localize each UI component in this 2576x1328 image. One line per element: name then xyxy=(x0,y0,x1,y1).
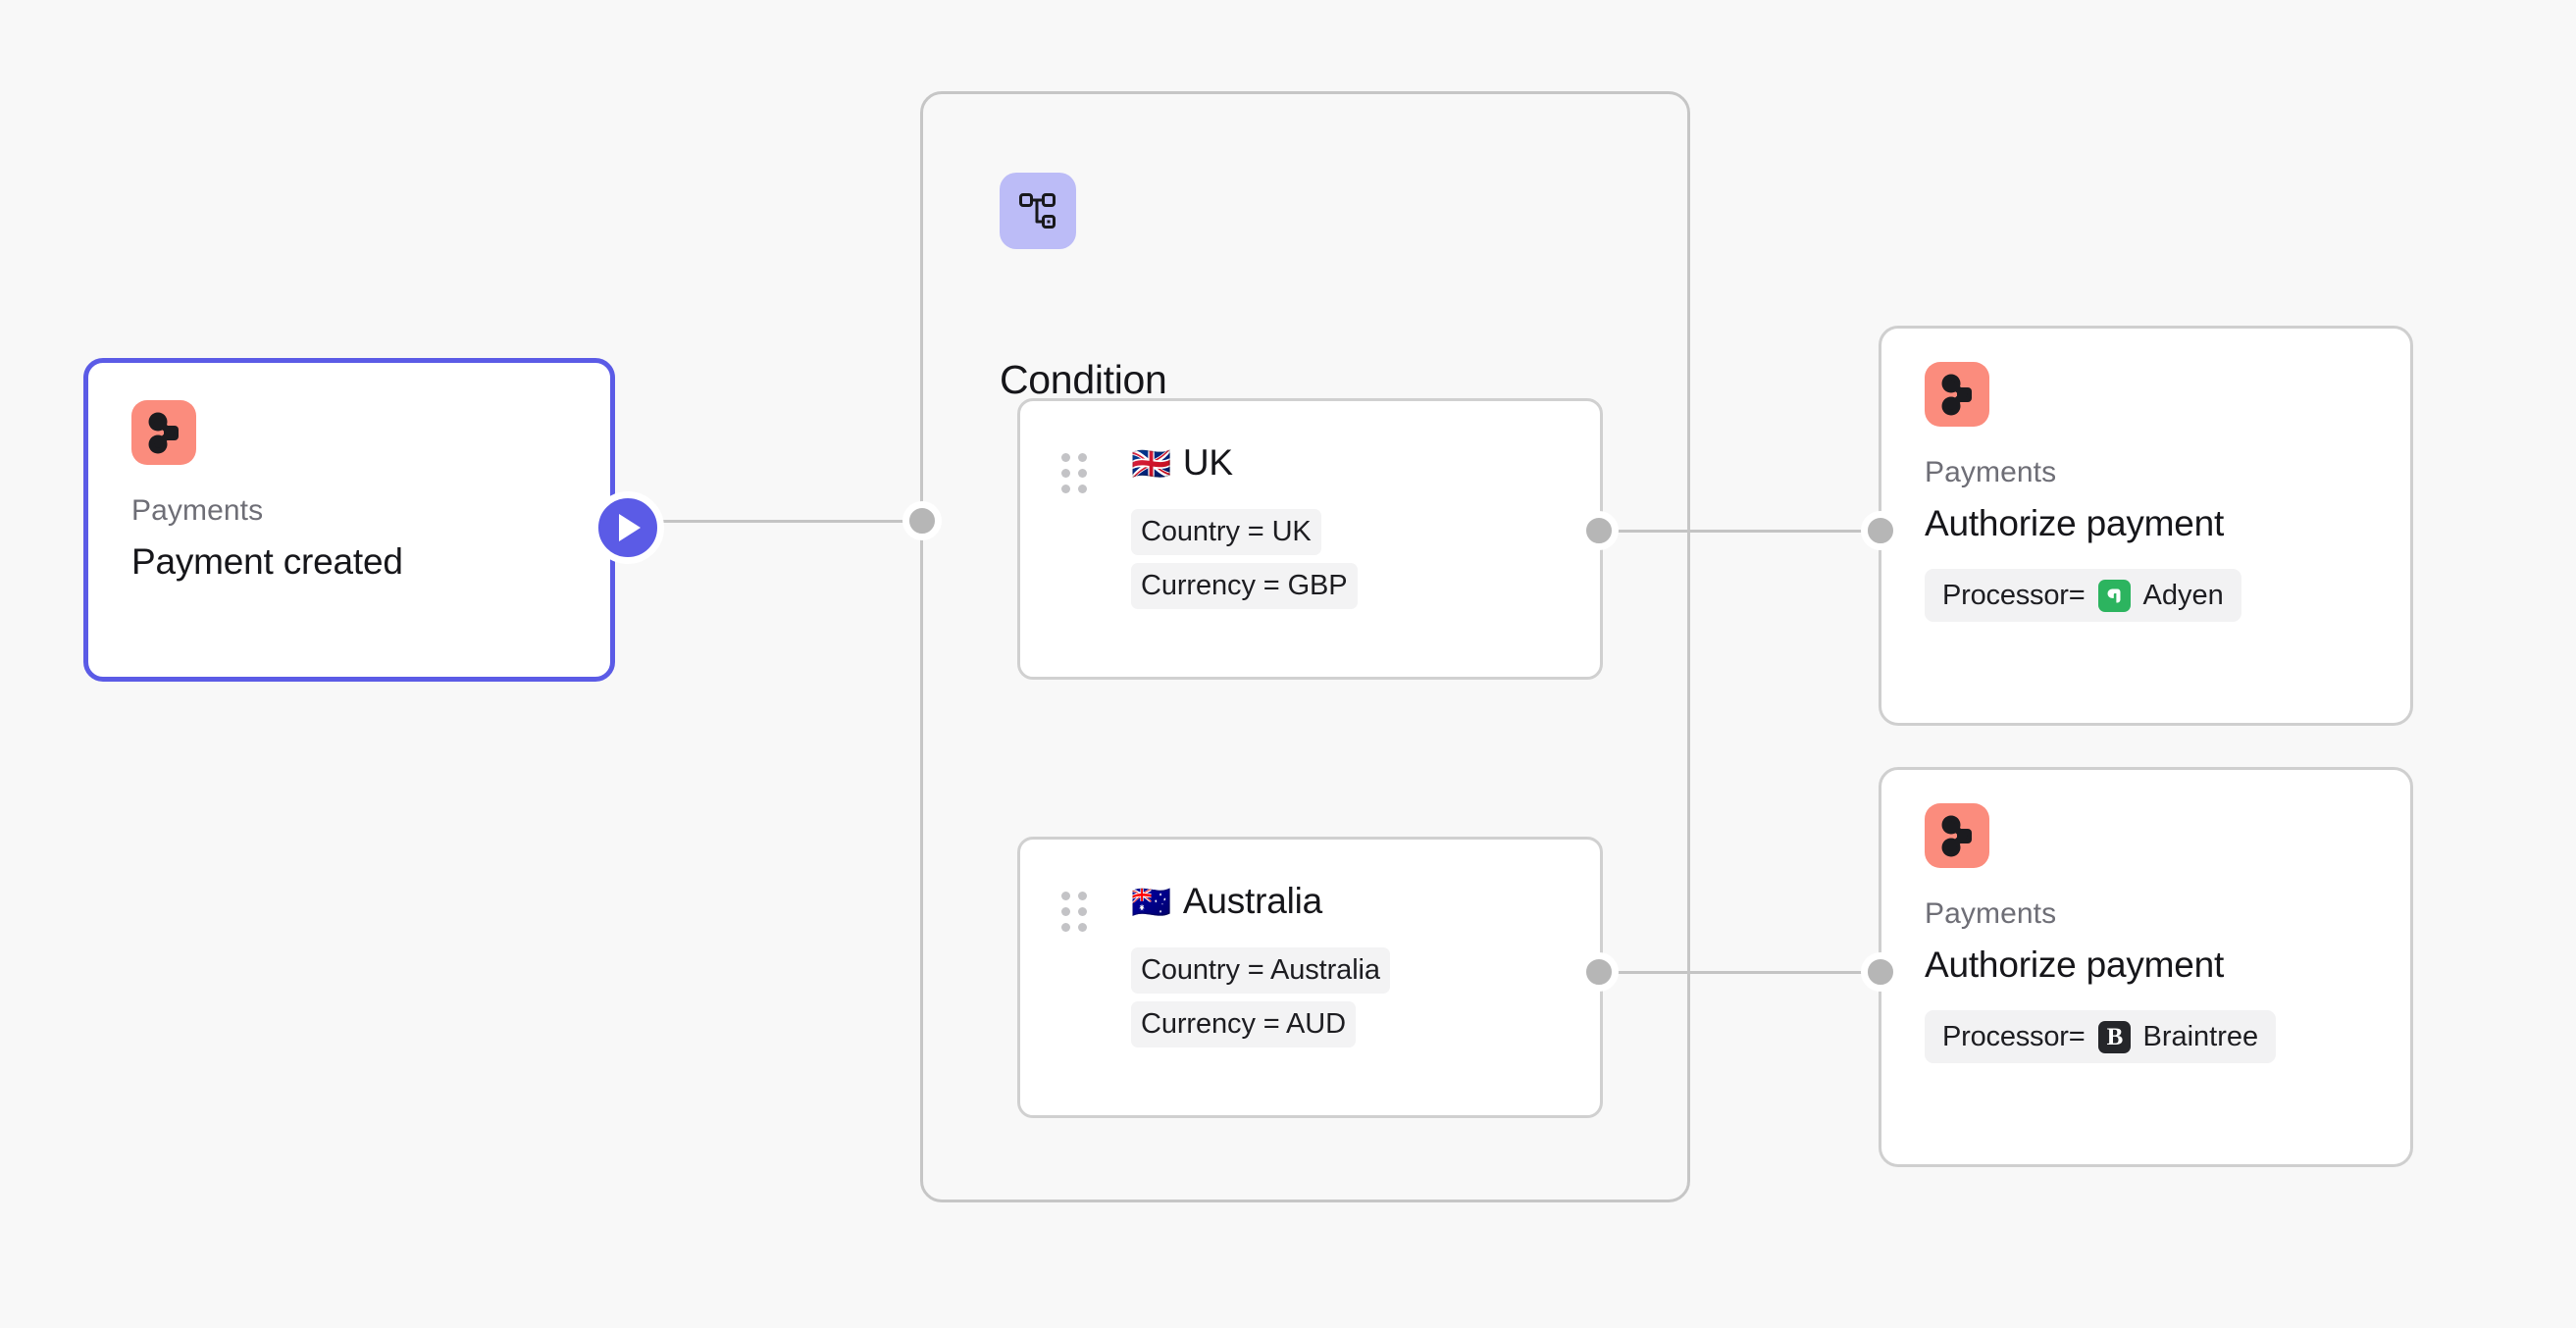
node-title: Payment created xyxy=(131,540,567,584)
braintree-logo-icon: B xyxy=(2098,1021,2131,1053)
adyen-logo-icon xyxy=(2098,580,2131,612)
node-category-label: Payments xyxy=(1925,456,2367,490)
processor-badge[interactable]: Processor= Adyen xyxy=(1925,569,2241,622)
condition-group-title: Condition xyxy=(1000,360,1167,400)
processor-name: Braintree xyxy=(2142,1019,2258,1054)
processor-badge[interactable]: Processor= B Braintree xyxy=(1925,1010,2276,1063)
workflow-canvas[interactable]: Payments Payment created Condition xyxy=(0,0,2576,1328)
condition-pill[interactable]: Currency = GBP xyxy=(1131,563,1358,609)
condition-pill[interactable]: Country = Australia xyxy=(1131,947,1390,994)
branch-name: Australia xyxy=(1183,879,1322,924)
node-category-label: Payments xyxy=(1925,897,2367,932)
processor-name: Adyen xyxy=(2142,578,2223,613)
handle-australia-output[interactable] xyxy=(1579,952,1619,992)
branch-header: 🇬🇧 UK xyxy=(1131,440,1233,485)
node-title: Authorize payment xyxy=(1925,502,2367,545)
drag-dots-icon[interactable] xyxy=(1061,892,1087,931)
action-node-authorize-payment-braintree[interactable]: Payments Authorize payment Processor= B … xyxy=(1879,767,2413,1167)
trigger-node-payment-created[interactable]: Payments Payment created xyxy=(83,358,615,682)
condition-pill[interactable]: Country = UK xyxy=(1131,509,1321,555)
flag-icon-uk: 🇬🇧 xyxy=(1131,447,1171,480)
handle-braintree-input[interactable] xyxy=(1861,952,1900,992)
condition-group-panel[interactable]: Condition 🇬🇧 UK Country = UK Currency = … xyxy=(920,91,1690,1202)
node-title: Authorize payment xyxy=(1925,944,2367,987)
action-node-authorize-payment-adyen[interactable]: Payments Authorize payment Processor= Ad… xyxy=(1879,326,2413,726)
handle-condition-input[interactable] xyxy=(902,501,942,540)
processor-label: Processor= xyxy=(1942,1019,2085,1054)
handle-uk-output[interactable] xyxy=(1579,511,1619,550)
condition-branch-icon xyxy=(1000,173,1076,249)
condition-list: Country = UK Currency = GBP xyxy=(1131,509,1358,609)
payments-app-icon xyxy=(131,400,196,465)
payments-app-icon xyxy=(1925,803,1989,868)
node-category-label: Payments xyxy=(131,494,567,529)
branch-header: 🇦🇺 Australia xyxy=(1131,879,1322,924)
flag-icon-australia: 🇦🇺 xyxy=(1131,886,1171,918)
play-icon[interactable] xyxy=(592,491,664,564)
payments-app-icon xyxy=(1925,362,1989,427)
condition-branch-card[interactable]: 🇬🇧 UK Country = UK Currency = GBP xyxy=(1017,398,1603,680)
handle-adyen-input[interactable] xyxy=(1861,511,1900,550)
edge-trigger-to-condition xyxy=(628,520,927,523)
condition-branch-card[interactable]: 🇦🇺 Australia Country = Australia Currenc… xyxy=(1017,837,1603,1118)
condition-pill[interactable]: Currency = AUD xyxy=(1131,1001,1356,1047)
processor-label: Processor= xyxy=(1942,578,2085,613)
drag-dots-icon[interactable] xyxy=(1061,453,1087,492)
condition-list: Country = Australia Currency = AUD xyxy=(1131,947,1390,1047)
branch-name: UK xyxy=(1183,440,1233,485)
